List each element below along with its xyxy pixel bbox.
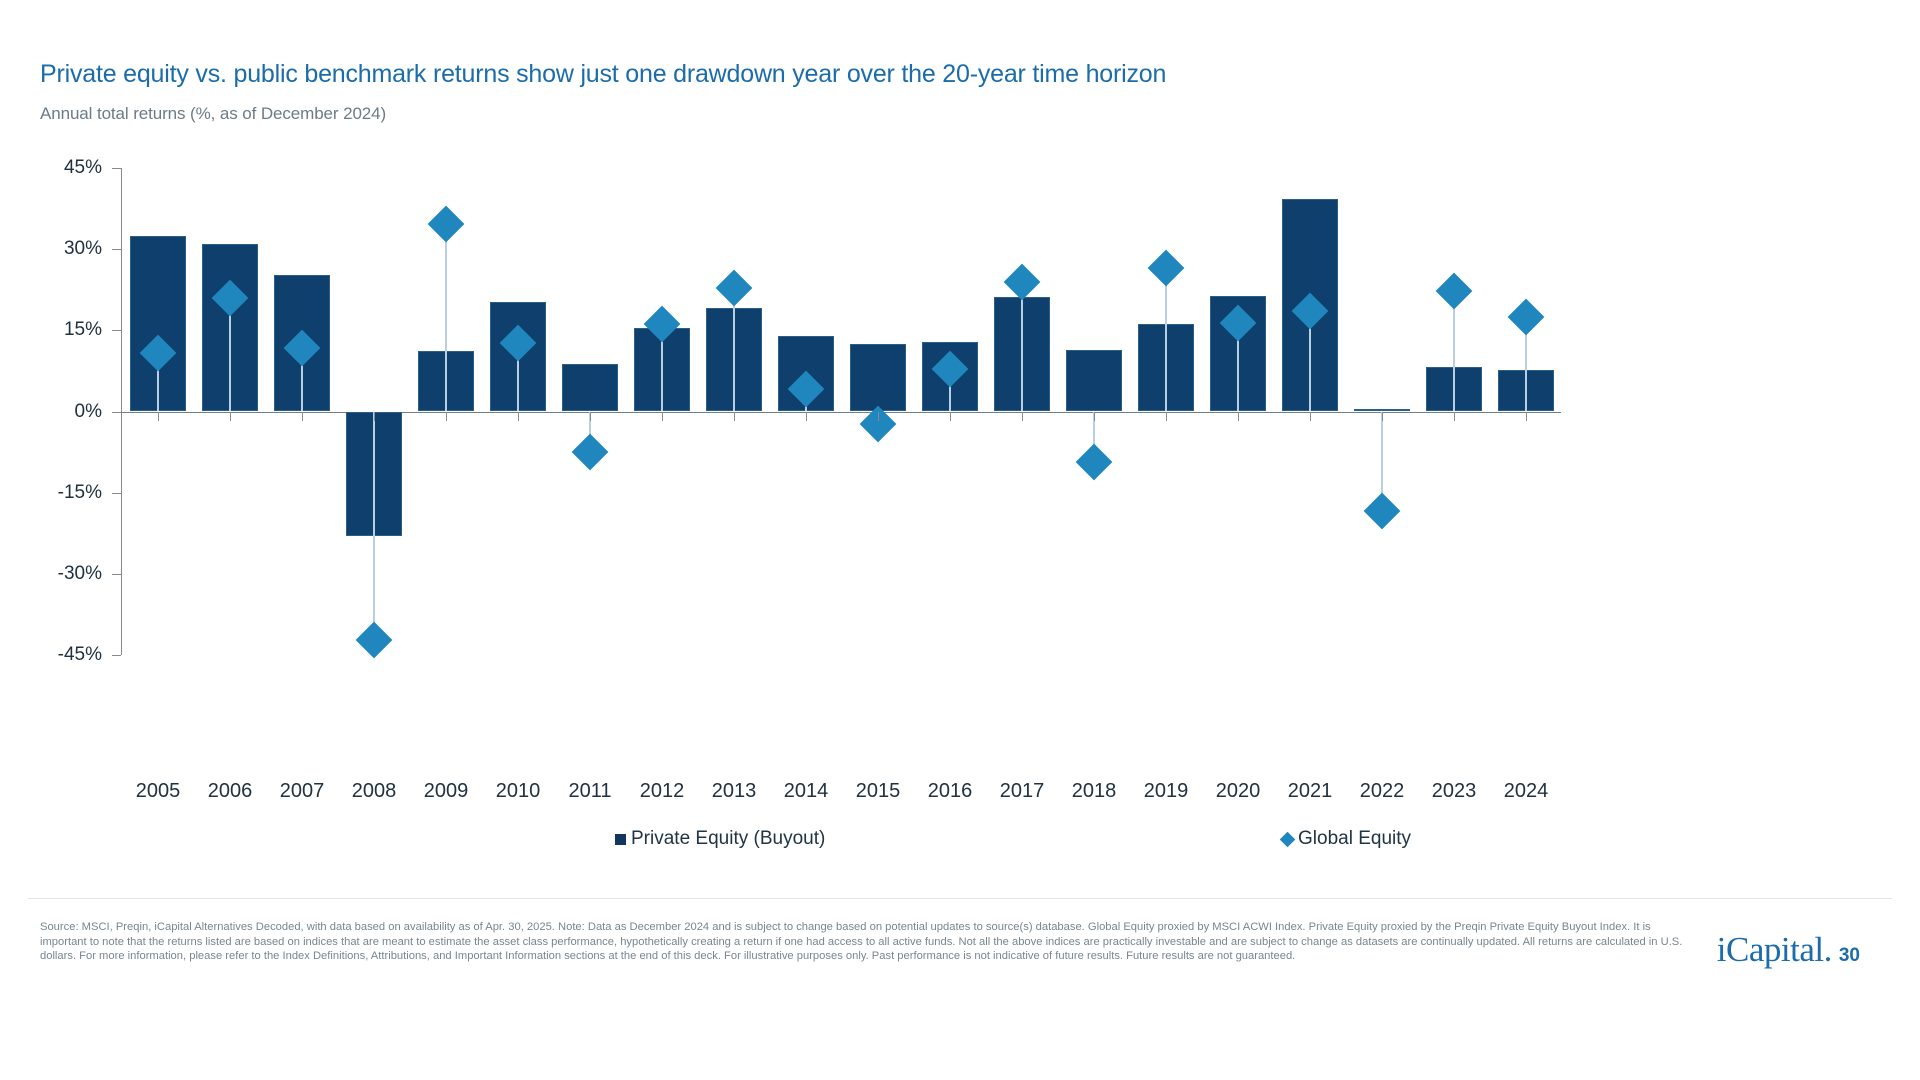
chart-column[interactable] xyxy=(554,150,626,770)
chart-column[interactable] xyxy=(482,150,554,770)
diamond-marker-global-equity[interactable] xyxy=(428,206,465,243)
x-axis-label: 2024 xyxy=(1504,780,1549,803)
x-axis-tick-mark xyxy=(1454,412,1455,421)
bar-private-equity[interactable] xyxy=(1066,350,1122,411)
x-axis-label: 2020 xyxy=(1216,780,1261,803)
x-axis-tick-mark xyxy=(1166,412,1167,421)
chart-legend: Private Equity (Buyout) Global Equity xyxy=(40,828,1890,862)
chart-column[interactable] xyxy=(770,150,842,770)
x-axis-tick-mark xyxy=(1382,412,1383,421)
x-axis-tick-mark xyxy=(662,412,663,421)
marker-stem xyxy=(1021,282,1023,412)
x-axis-label: 2005 xyxy=(136,780,181,803)
diamond-marker-icon xyxy=(1280,831,1296,847)
x-axis-tick-mark xyxy=(302,412,303,421)
diamond-marker-global-equity[interactable] xyxy=(1436,273,1473,310)
x-axis-tick-mark xyxy=(1238,412,1239,421)
chart-column[interactable] xyxy=(410,150,482,770)
bar-private-equity[interactable] xyxy=(850,344,906,412)
legend-item-global-equity[interactable]: Global Equity xyxy=(1282,828,1411,850)
x-axis-label: 2011 xyxy=(568,780,611,803)
y-axis-tick-mark xyxy=(112,168,121,169)
chart-column[interactable] xyxy=(626,150,698,770)
x-axis-label: 2006 xyxy=(208,780,253,803)
y-axis-tick-label: -30% xyxy=(58,563,102,585)
x-axis-label: 2007 xyxy=(280,780,325,803)
y-axis-tick-mark xyxy=(112,249,121,250)
x-axis-label: 2021 xyxy=(1288,780,1333,803)
x-axis-label: 2010 xyxy=(496,780,541,803)
y-axis-tick-label: 45% xyxy=(64,157,102,179)
footer-divider xyxy=(28,898,1892,899)
chart-plot-area: 45%30%15%0%-15%-30%-45% 2005200620072008… xyxy=(40,150,1890,790)
logo-wordmark: iCapital. xyxy=(1717,930,1832,970)
chart-column[interactable] xyxy=(1274,150,1346,770)
x-axis-label: 2012 xyxy=(640,780,685,803)
diamond-marker-global-equity[interactable] xyxy=(1148,249,1185,286)
x-axis-tick-mark xyxy=(590,412,591,421)
diamond-marker-global-equity[interactable] xyxy=(716,270,753,307)
x-axis-tick-mark xyxy=(950,412,951,421)
chart-column[interactable] xyxy=(338,150,410,770)
y-axis-tick-mark xyxy=(112,330,121,331)
chart-series-container xyxy=(122,150,1562,770)
bar-private-equity[interactable] xyxy=(562,364,618,412)
y-axis-tick-mark xyxy=(112,574,121,575)
x-axis-tick-mark xyxy=(1022,412,1023,421)
y-axis-tick-label: 0% xyxy=(75,401,102,423)
y-axis-tick-label: -15% xyxy=(58,482,102,504)
chart-column[interactable] xyxy=(1058,150,1130,770)
x-axis-label: 2017 xyxy=(1000,780,1045,803)
chart-column[interactable] xyxy=(986,150,1058,770)
marker-stem xyxy=(373,412,375,640)
legend-label-global-equity: Global Equity xyxy=(1298,828,1411,850)
chart-column[interactable] xyxy=(266,150,338,770)
marker-stem xyxy=(1165,268,1167,412)
chart-column[interactable] xyxy=(1490,150,1562,770)
x-axis-label: 2015 xyxy=(856,780,901,803)
x-axis-label: 2022 xyxy=(1360,780,1405,803)
x-axis-label: 2014 xyxy=(784,780,829,803)
chart-column[interactable] xyxy=(194,150,266,770)
x-axis-tick-mark xyxy=(518,412,519,421)
x-axis-label: 2009 xyxy=(424,780,469,803)
y-axis-tick-mark xyxy=(112,493,121,494)
legend-item-private-equity[interactable]: Private Equity (Buyout) xyxy=(615,828,825,850)
chart-column[interactable] xyxy=(1418,150,1490,770)
y-axis: 45%30%15%0%-15%-30%-45% xyxy=(40,150,112,770)
x-axis-tick-mark xyxy=(1094,412,1095,421)
diamond-marker-global-equity[interactable] xyxy=(572,433,609,470)
x-axis-tick-mark xyxy=(734,412,735,421)
x-axis-label: 2019 xyxy=(1144,780,1189,803)
diamond-marker-global-equity[interactable] xyxy=(356,621,393,658)
icapital-logo: iCapital. 30 xyxy=(1717,930,1860,970)
square-marker-icon xyxy=(615,834,626,845)
y-axis-tick-label: 30% xyxy=(64,238,102,260)
x-axis-tick-mark xyxy=(230,412,231,421)
diamond-marker-global-equity[interactable] xyxy=(1508,298,1545,335)
page-subtitle: Annual total returns (%, as of December … xyxy=(40,104,386,124)
x-axis-label: 2016 xyxy=(928,780,973,803)
chart-column[interactable] xyxy=(698,150,770,770)
x-axis-label: 2008 xyxy=(352,780,397,803)
x-axis-tick-mark xyxy=(1310,412,1311,421)
legend-label-private-equity: Private Equity (Buyout) xyxy=(631,828,825,850)
x-axis-label: 2023 xyxy=(1432,780,1477,803)
y-axis-tick-mark xyxy=(112,655,121,656)
footnote-text: Source: MSCI, Preqin, iCapital Alternati… xyxy=(40,920,1695,964)
chart-column[interactable] xyxy=(1202,150,1274,770)
chart-column[interactable] xyxy=(842,150,914,770)
y-axis-tick-label: -45% xyxy=(58,644,102,666)
chart-column[interactable] xyxy=(914,150,986,770)
x-axis-tick-mark xyxy=(806,412,807,421)
chart-column[interactable] xyxy=(1346,150,1418,770)
x-axis-tick-mark xyxy=(878,412,879,421)
page-title: Private equity vs. public benchmark retu… xyxy=(40,60,1166,89)
x-axis-tick-mark xyxy=(158,412,159,421)
diamond-marker-global-equity[interactable] xyxy=(1076,444,1113,481)
y-axis-tick-mark xyxy=(112,412,121,413)
x-axis-label: 2018 xyxy=(1072,780,1117,803)
x-axis-tick-mark xyxy=(374,412,375,421)
diamond-marker-global-equity[interactable] xyxy=(1004,263,1041,300)
chart-column[interactable] xyxy=(122,150,194,770)
y-axis-tick-label: 15% xyxy=(64,319,102,341)
x-axis-tick-mark xyxy=(446,412,447,421)
marker-stem xyxy=(445,224,447,411)
page-number: 30 xyxy=(1839,945,1860,967)
chart-column[interactable] xyxy=(1130,150,1202,770)
diamond-marker-global-equity[interactable] xyxy=(1364,493,1401,530)
slide-root: Private equity vs. public benchmark retu… xyxy=(0,0,1920,1080)
x-axis-tick-mark xyxy=(1526,412,1527,421)
x-axis-label: 2013 xyxy=(712,780,757,803)
